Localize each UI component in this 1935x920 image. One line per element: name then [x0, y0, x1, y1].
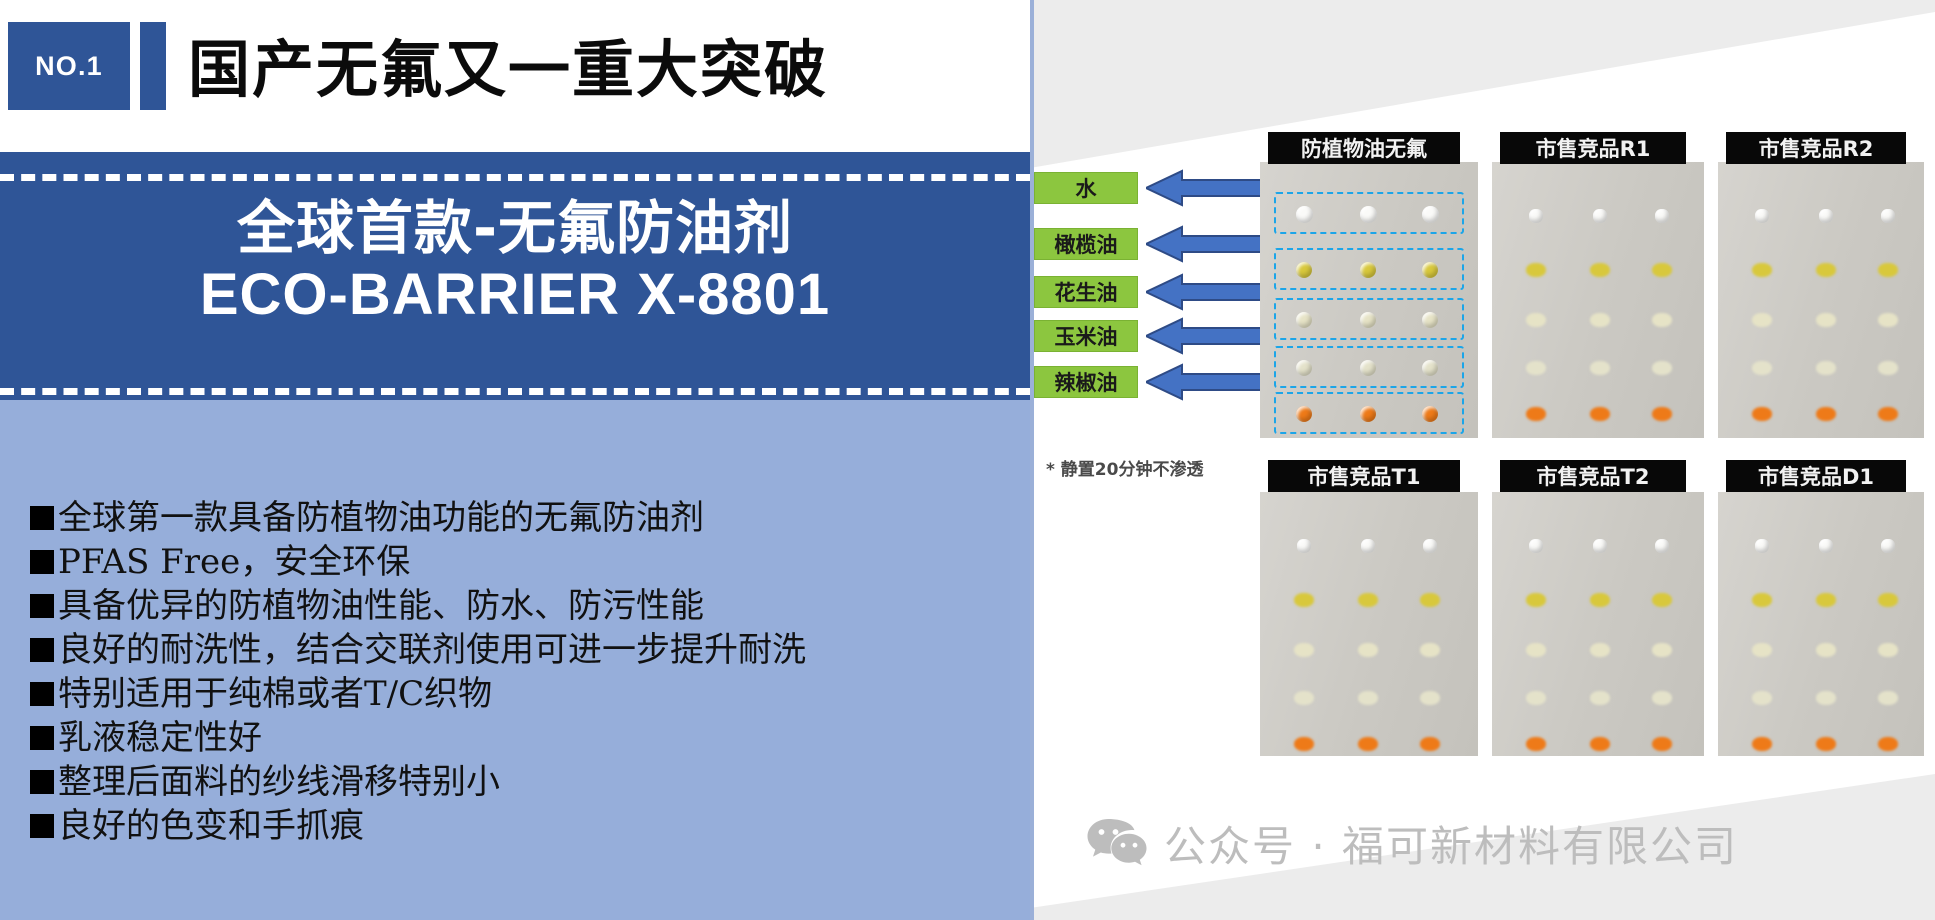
left-content-column: NO.1 国产无氟又一重大突破 全球首款-无氟防油剂 ECO-BARRIER X… [0, 0, 1030, 920]
feature-item-label: 乳液稳定性好 [58, 716, 262, 760]
droplet [1529, 209, 1543, 223]
droplet [1529, 539, 1543, 553]
droplet [1590, 263, 1610, 277]
droplet [1358, 643, 1378, 657]
droplet [1360, 406, 1376, 422]
feature-item-label: PFAS Free，安全环保 [58, 540, 410, 584]
hero-block: 全球首款-无氟防油剂 ECO-BARRIER X-8801 [0, 152, 1030, 400]
feature-item-label: 具备优异的防植物油性能、防水、防污性能 [58, 584, 704, 628]
droplet [1296, 312, 1312, 328]
sample-panel: 市售竞品D1 [1712, 458, 1932, 756]
droplet [1878, 593, 1898, 607]
droplet [1878, 361, 1898, 375]
feature-item: PFAS Free，安全环保 [30, 540, 1010, 584]
fabric-swatch-photo [1718, 162, 1924, 438]
legend-row: 水 [1034, 170, 1284, 206]
no1-badge: NO.1 [8, 22, 130, 110]
droplet [1652, 593, 1672, 607]
sample-panel-label: 市售竞品R2 [1726, 132, 1906, 164]
sample-panel: 市售竞品T2 [1486, 458, 1712, 756]
droplet [1526, 737, 1546, 751]
droplet [1752, 263, 1772, 277]
droplet [1294, 737, 1314, 751]
feature-item-label: 全球第一款具备防植物油功能的无氟防油剂 [58, 496, 704, 540]
features-panel: 全球第一款具备防植物油功能的无氟防油剂 PFAS Free，安全环保具备优异的防… [0, 400, 1030, 920]
droplet [1816, 263, 1836, 277]
droplet [1881, 539, 1895, 553]
column-divider [1030, 0, 1034, 920]
bullet-square-icon [30, 726, 54, 750]
droplet [1819, 209, 1833, 223]
feature-item: 整理后面料的纱线滑移特别小 [30, 760, 1010, 804]
droplet [1752, 737, 1772, 751]
droplet [1755, 539, 1769, 553]
droplet [1752, 313, 1772, 327]
droplet [1590, 407, 1610, 421]
droplet [1360, 312, 1376, 328]
droplet [1294, 691, 1314, 705]
droplet [1752, 643, 1772, 657]
hero-title-en: ECO-BARRIER X-8801 [0, 262, 1030, 329]
droplet [1878, 737, 1898, 751]
sample-photo-grid: 防植物油无氟市售竞品R1市售竞品R2 市售竞品T1市售竞品T2市售竞品D1 [1254, 132, 1932, 756]
feature-item-label: 整理后面料的纱线滑移特别小 [58, 760, 500, 804]
droplet-layer [1718, 492, 1924, 756]
fabric-swatch-photo [1260, 162, 1478, 438]
droplet [1816, 407, 1836, 421]
watermark-text: 公众号 · 福可新材料有限公司 [1164, 813, 1738, 874]
droplet [1655, 209, 1669, 223]
droplet [1655, 539, 1669, 553]
legend-row: 橄榄油 [1034, 226, 1284, 262]
droplet [1361, 539, 1375, 553]
droplet-layer [1492, 162, 1704, 438]
fabric-swatch-photo [1492, 492, 1704, 756]
feature-item: 特别适用于纯棉或者T/C织物 [30, 672, 1010, 716]
header-accent-bar [140, 22, 166, 110]
droplet [1878, 691, 1898, 705]
droplet-layer [1492, 492, 1704, 756]
feature-item-label: 良好的耐洗性，结合交联剂使用可进一步提升耐洗 [58, 628, 806, 672]
feature-list: 全球第一款具备防植物油功能的无氟防油剂 PFAS Free，安全环保具备优异的防… [30, 496, 1010, 848]
droplet [1526, 691, 1546, 705]
hero-text-group: 全球首款-无氟防油剂 ECO-BARRIER X-8801 [0, 194, 1030, 329]
droplet [1816, 361, 1836, 375]
right-visual-column: 水橄榄油花生油玉米油辣椒油 * 静置20分钟不渗透 防植物油无氟市售竞品R1市售… [1030, 0, 1935, 920]
droplet [1652, 643, 1672, 657]
bullet-square-icon [30, 770, 54, 794]
fabric-swatch-photo [1718, 492, 1924, 756]
droplet [1526, 263, 1546, 277]
droplet [1360, 360, 1376, 376]
sample-panel: 市售竞品R1 [1486, 132, 1712, 452]
droplet-layer [1718, 162, 1924, 438]
bullet-square-icon [30, 550, 54, 574]
droplet [1297, 539, 1311, 553]
droplet [1652, 737, 1672, 751]
droplet [1652, 407, 1672, 421]
legend-row: 花生油 [1034, 274, 1284, 310]
droplet [1878, 263, 1898, 277]
droplet [1816, 313, 1836, 327]
droplet [1358, 737, 1378, 751]
feature-item: 良好的耐洗性，结合交联剂使用可进一步提升耐洗 [30, 628, 1010, 672]
droplet [1590, 361, 1610, 375]
droplet [1590, 313, 1610, 327]
droplet [1294, 593, 1314, 607]
sample-panel: 防植物油无氟 [1254, 132, 1486, 452]
legend-row: 玉米油 [1034, 318, 1284, 354]
sample-row-bottom: 市售竞品T1市售竞品T2市售竞品D1 [1254, 458, 1932, 756]
droplet [1526, 313, 1546, 327]
sample-panel: 市售竞品R2 [1712, 132, 1932, 452]
sample-row-top: 防植物油无氟市售竞品R1市售竞品R2 [1254, 132, 1932, 452]
feature-item: 具备优异的防植物油性能、防水、防污性能 [30, 584, 1010, 628]
droplet [1360, 262, 1376, 278]
droplet [1358, 593, 1378, 607]
droplet [1881, 209, 1895, 223]
droplet [1590, 691, 1610, 705]
bullet-square-icon [30, 506, 54, 530]
droplet [1752, 361, 1772, 375]
droplet [1816, 737, 1836, 751]
bullet-square-icon [30, 682, 54, 706]
droplet [1878, 407, 1898, 421]
droplet [1360, 206, 1377, 223]
droplet [1755, 209, 1769, 223]
droplet [1422, 206, 1439, 223]
sample-panel: 市售竞品T1 [1254, 458, 1486, 756]
watermark: 公众号 · 福可新材料有限公司 [1086, 810, 1906, 876]
fabric-swatch-photo [1492, 162, 1704, 438]
feature-item: 乳液稳定性好 [30, 716, 1010, 760]
droplet [1420, 593, 1440, 607]
legend-chip: 水 [1034, 172, 1138, 204]
droplet [1752, 593, 1772, 607]
sample-panel-label: 市售竞品D1 [1726, 460, 1906, 492]
droplet [1422, 312, 1438, 328]
droplet [1652, 263, 1672, 277]
legend-chip: 玉米油 [1034, 320, 1138, 352]
bullet-square-icon [30, 594, 54, 618]
sample-panel-label: 市售竞品R1 [1500, 132, 1686, 164]
droplet [1420, 737, 1440, 751]
legend-row: 辣椒油 [1034, 364, 1284, 400]
page-title: 国产无氟又一重大突破 [188, 14, 828, 114]
feature-item: 良好的色变和手抓痕 [30, 804, 1010, 848]
droplet [1752, 691, 1772, 705]
footnote-text: * 静置20分钟不渗透 [1046, 455, 1276, 480]
droplet [1422, 406, 1438, 422]
droplet [1526, 593, 1546, 607]
bullet-square-icon [30, 638, 54, 662]
liquid-legend: 水橄榄油花生油玉米油辣椒油 [1034, 170, 1284, 450]
droplet [1590, 737, 1610, 751]
droplet [1593, 209, 1607, 223]
droplet [1420, 643, 1440, 657]
fabric-swatch-photo [1260, 492, 1478, 756]
hero-dashed-rule-top [0, 174, 1030, 181]
legend-chip: 花生油 [1034, 276, 1138, 308]
droplet [1816, 691, 1836, 705]
droplet-layer [1260, 492, 1478, 756]
droplet [1423, 539, 1437, 553]
feature-item-label: 特别适用于纯棉或者T/C织物 [58, 672, 492, 716]
bullet-square-icon [30, 814, 54, 838]
droplet [1296, 262, 1312, 278]
droplet [1819, 539, 1833, 553]
droplet [1816, 593, 1836, 607]
feature-item-label: 良好的色变和手抓痕 [58, 804, 364, 848]
droplet [1593, 539, 1607, 553]
droplet [1652, 313, 1672, 327]
droplet [1590, 593, 1610, 607]
droplet [1296, 360, 1312, 376]
legend-chip: 辣椒油 [1034, 366, 1138, 398]
droplet [1358, 691, 1378, 705]
legend-chip: 橄榄油 [1034, 228, 1138, 260]
sample-panel-label: 市售竞品T1 [1268, 460, 1460, 492]
droplet [1652, 691, 1672, 705]
droplet [1878, 313, 1898, 327]
droplet [1590, 643, 1610, 657]
droplet-layer [1260, 162, 1478, 438]
droplet [1296, 406, 1312, 422]
hero-title-cn: 全球首款-无氟防油剂 [0, 194, 1030, 262]
droplet [1652, 361, 1672, 375]
droplet [1422, 262, 1438, 278]
droplet [1296, 206, 1313, 223]
hero-dashed-rule-bottom [0, 388, 1030, 395]
droplet [1878, 643, 1898, 657]
sample-panel-label: 市售竞品T2 [1500, 460, 1686, 492]
droplet [1816, 643, 1836, 657]
droplet [1752, 407, 1772, 421]
droplet [1420, 691, 1440, 705]
sample-panel-label: 防植物油无氟 [1268, 132, 1460, 164]
wechat-icon [1086, 817, 1148, 869]
feature-item: 全球第一款具备防植物油功能的无氟防油剂 [30, 496, 1010, 540]
droplet [1526, 361, 1546, 375]
droplet [1526, 407, 1546, 421]
droplet [1526, 643, 1546, 657]
droplet [1294, 643, 1314, 657]
header-band: NO.1 国产无氟又一重大突破 [0, 0, 1030, 152]
droplet [1422, 360, 1438, 376]
